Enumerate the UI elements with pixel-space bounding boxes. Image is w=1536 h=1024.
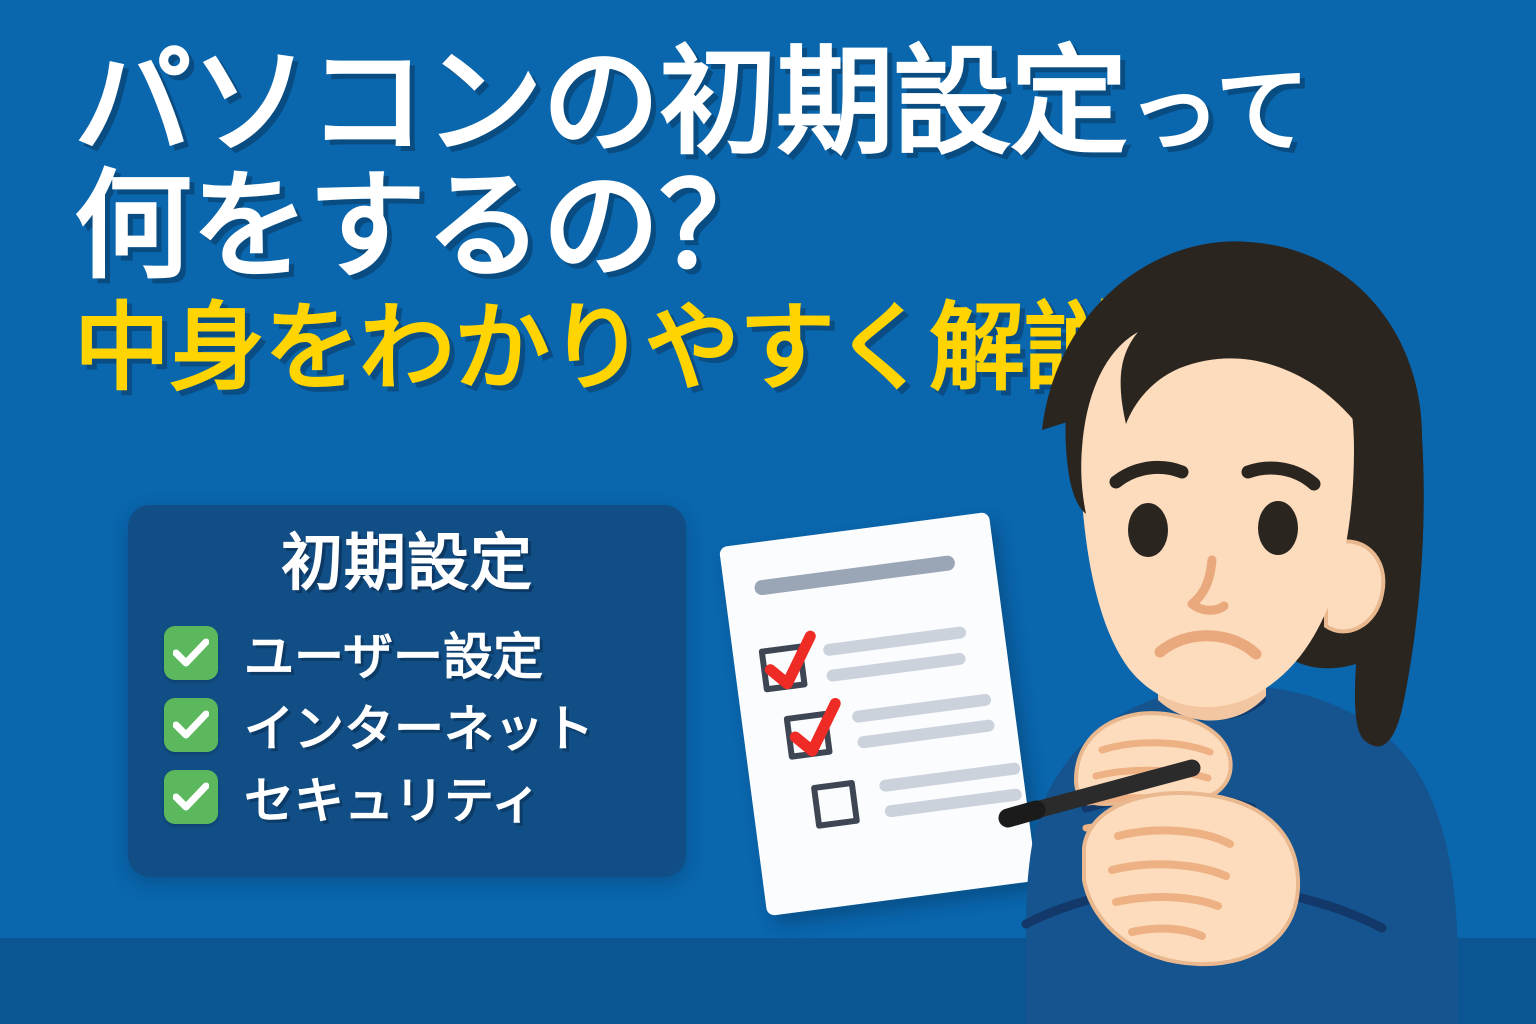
list-item[interactable]: セキュリティ: [164, 761, 686, 833]
paper-checkbox-unchecked: [811, 780, 860, 829]
list-item-label: インターネット: [244, 689, 594, 761]
headline-line-1: パソコンの初期設定って: [74, 46, 1474, 162]
card-item-list: ユーザー設定 インターネット セキュリティ: [128, 617, 686, 833]
list-item[interactable]: ユーザー設定: [164, 617, 686, 689]
thinking-woman-illustration: [930, 180, 1536, 1024]
check-icon: [164, 626, 218, 680]
list-item-label: ユーザー設定: [244, 617, 543, 689]
headline-line-1-main: パソコンの初期設定: [74, 37, 1127, 169]
card-title: 初期設定: [128, 533, 686, 595]
check-icon: [164, 770, 218, 824]
check-icon: [164, 698, 218, 752]
red-check-icon: [777, 692, 856, 771]
list-item-label: セキュリティ: [244, 761, 541, 833]
list-item[interactable]: インターネット: [164, 689, 686, 761]
paper-header-bar: [754, 555, 956, 596]
red-check-icon: [752, 625, 831, 704]
headline-line-1-suffix: って: [1127, 58, 1308, 163]
setup-checklist-card: 初期設定 ユーザー設定 インターネット セキュリティ: [128, 505, 686, 877]
poster-canvas: パソコンの初期設定って 何をするの？ 中身をわかりやすく解説 初期設定 ユーザー…: [0, 0, 1536, 1024]
